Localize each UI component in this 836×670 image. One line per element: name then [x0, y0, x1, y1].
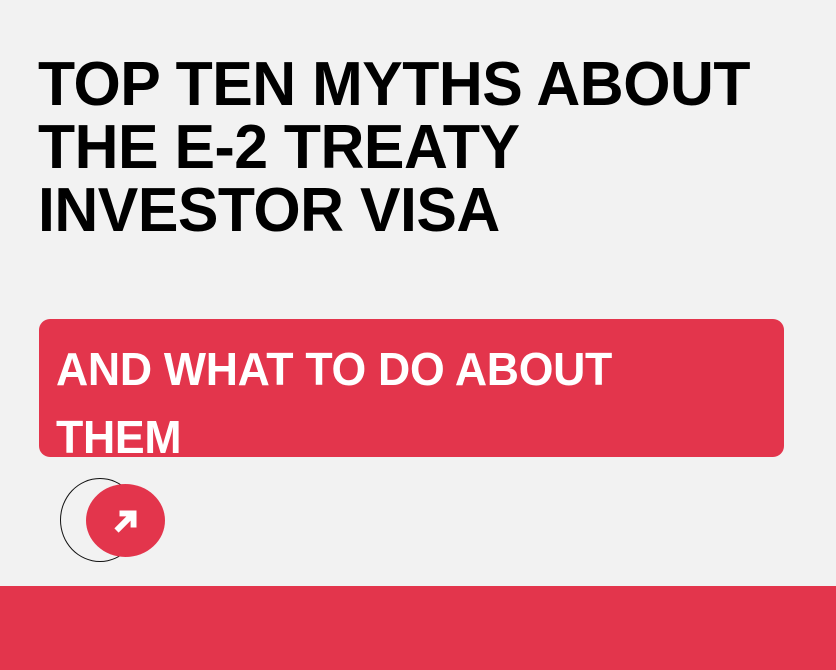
- bottom-accent-bar: [0, 586, 836, 670]
- arrow-up-right-icon[interactable]: [86, 484, 165, 557]
- title-slide: TOP TEN MYTHS ABOUT THE E-2 TREATY INVES…: [0, 0, 836, 670]
- subtitle-text: AND WHAT TO DO ABOUT THEM: [56, 335, 743, 471]
- subtitle-banner: AND WHAT TO DO ABOUT THEM: [39, 319, 784, 457]
- page-title: TOP TEN MYTHS ABOUT THE E-2 TREATY INVES…: [38, 53, 783, 242]
- arrow-badge[interactable]: [60, 478, 166, 563]
